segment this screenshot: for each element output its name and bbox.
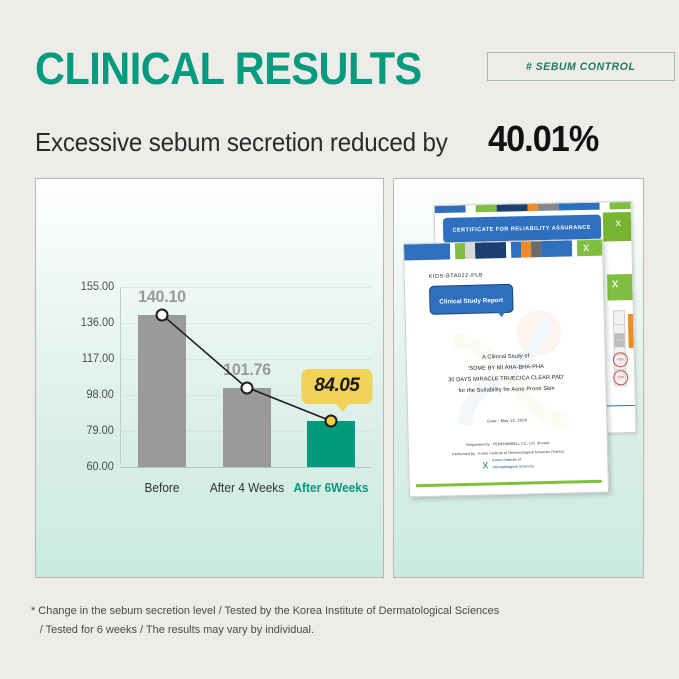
color-strip-segment bbox=[465, 243, 476, 259]
bar-after-4-weeks bbox=[223, 388, 271, 467]
report-type-badge: Clinical Study Report bbox=[429, 284, 513, 315]
page-title: CLINICAL RESULTS bbox=[35, 46, 422, 92]
header: CLINICAL RESULTS # SEBUM CONTROL bbox=[35, 46, 650, 94]
color-strip-segment bbox=[600, 202, 610, 209]
sebum-control-badge-label: # SEBUM CONTROL bbox=[526, 61, 636, 73]
footnote-line-2: / Tested for 6 weeks / The results may v… bbox=[31, 621, 613, 640]
color-strip-segment bbox=[527, 204, 537, 211]
clinical-study-report-document: x KIDS-BTA022-PLB Clinical Study Report … bbox=[403, 239, 609, 498]
color-strip-segment bbox=[496, 204, 527, 212]
certificate-color-strip bbox=[435, 202, 631, 213]
color-strip-segment bbox=[521, 241, 532, 257]
chart-panel: 155.00136.00117.0098.0079.0060.00 140.10… bbox=[35, 178, 384, 578]
footnote-line-1: * Change in the sebum secretion level / … bbox=[31, 602, 613, 621]
color-strip-segment bbox=[476, 205, 497, 212]
bar-value-label: 101.76 bbox=[223, 360, 271, 380]
color-strip-segment bbox=[511, 242, 522, 258]
color-strip-segment bbox=[466, 205, 476, 212]
color-strip-segment bbox=[475, 242, 506, 259]
dna-icon-report: x bbox=[583, 241, 589, 254]
y-axis-tick-label: 117.00 bbox=[81, 353, 114, 365]
document-panel: CERTIFICATE FOR RELIABILITY ASSURANCE x … bbox=[393, 178, 644, 578]
certificate-title: CERTIFICATE FOR RELIABILITY ASSURANCE bbox=[453, 224, 591, 233]
color-strip-segment bbox=[538, 203, 559, 210]
color-strip-segment bbox=[610, 202, 631, 209]
color-strip-segment bbox=[531, 241, 542, 257]
plot-area: 140.10Before101.76After 4 Weeks84.05Afte… bbox=[120, 179, 371, 577]
color-strip-segment bbox=[455, 243, 466, 259]
color-strip-segment bbox=[404, 243, 450, 260]
highlight-callout-value: 84.05 bbox=[314, 375, 359, 396]
data-point-marker bbox=[324, 415, 337, 428]
report-type-badge-label: Clinical Study Report bbox=[439, 297, 503, 306]
bar-after-6weeks bbox=[307, 421, 355, 467]
x-axis-label: After 4 Weeks bbox=[209, 481, 283, 495]
report-color-strip bbox=[404, 240, 602, 261]
x-axis-label: Before bbox=[145, 481, 180, 495]
footnote: * Change in the sebum secretion level / … bbox=[31, 602, 613, 639]
institute-logo-icon: x bbox=[482, 458, 488, 470]
color-strip-segment bbox=[558, 203, 599, 211]
report-title: A Clinical Study of 'SOME BY MI AHA-BHA-… bbox=[417, 350, 596, 398]
y-axis-line bbox=[120, 287, 121, 465]
y-axis-tick-label: 60.00 bbox=[87, 461, 114, 473]
dna-icon-secondary: x bbox=[612, 276, 619, 289]
x-axis-label: After 6Weeks bbox=[293, 481, 368, 495]
data-point-marker bbox=[156, 309, 169, 322]
certificate-orange-tab bbox=[628, 314, 636, 348]
infographic-page: CLINICAL RESULTS # SEBUM CONTROL Excessi… bbox=[0, 0, 679, 679]
report-code: KIDS-BTA022-PLB bbox=[429, 273, 484, 280]
sebum-control-badge: # SEBUM CONTROL bbox=[487, 52, 675, 81]
subheadline-text: Excessive sebum secretion reduced by bbox=[35, 127, 448, 158]
highlight-callout: 84.05 bbox=[301, 369, 372, 404]
y-axis-tick-label: 136.00 bbox=[81, 317, 114, 329]
color-strip-segment bbox=[435, 205, 466, 213]
y-axis-ticks: 155.00136.00117.0098.0079.0060.00 bbox=[46, 179, 114, 577]
report-date: Date : May 14, 2020 bbox=[408, 416, 606, 426]
subheadline-percent: 40.01% bbox=[488, 118, 598, 160]
bar-before bbox=[138, 315, 186, 467]
bar-chart: 155.00136.00117.0098.0079.0060.00 140.10… bbox=[36, 179, 383, 577]
y-axis-tick-label: 155.00 bbox=[81, 281, 114, 293]
grid-line bbox=[120, 467, 371, 468]
institute-logo-text: Korea Institute of Dermatological Scienc… bbox=[492, 456, 534, 470]
subheadline: Excessive sebum secretion reduced by 40.… bbox=[35, 118, 604, 160]
y-axis-tick-label: 79.00 bbox=[87, 425, 114, 437]
color-strip-segment bbox=[577, 240, 603, 257]
y-axis-tick-label: 98.00 bbox=[87, 389, 114, 401]
dna-icon: x bbox=[615, 218, 621, 229]
data-point-marker bbox=[240, 381, 253, 394]
report-green-bar bbox=[416, 480, 602, 488]
institute-logo-line2: Dermatological Sciences bbox=[492, 463, 534, 470]
bar-value-label: 140.10 bbox=[138, 287, 186, 307]
color-strip-segment bbox=[541, 240, 572, 257]
